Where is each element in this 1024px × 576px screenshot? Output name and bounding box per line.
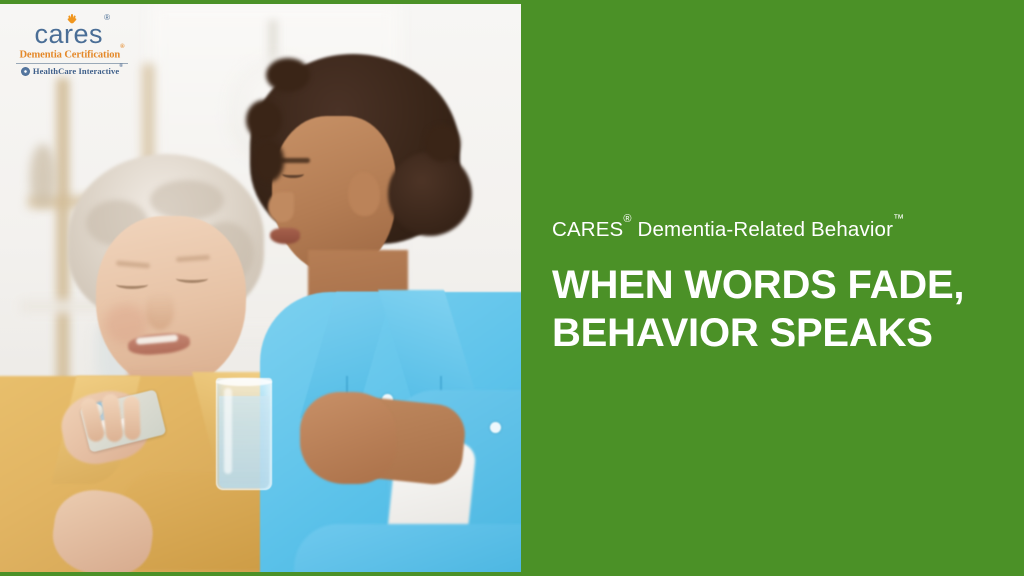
caregiver-eyebrow [280,158,310,163]
caregiver-hand [300,392,396,484]
hero-photo: cares® Dementia Certification® HealthCar… [0,4,521,572]
logo-company-mark: ® [119,64,123,69]
logo-company: HealthCare Interactive® [33,66,123,76]
logo-company-line: HealthCare Interactive® [14,66,130,76]
page-title: WHEN WORDS FADE, BEHAVIOR SPEAKS [552,261,990,359]
elder-eye [176,274,208,283]
logo-wordmark: cares® [14,22,130,48]
water-glass-rim [216,378,272,386]
caregiver-pants [294,524,521,572]
caregiver-lips [270,228,300,244]
eyebrow-trademark: ™ [893,213,904,225]
caregiver [236,4,521,572]
logo-tagline: Dementia Certification® [14,49,130,61]
logo-wordmark-text: cares [35,19,104,49]
flower-mark-icon [21,67,30,76]
caregiver-nose [268,192,294,222]
logo-divider [16,63,128,64]
headline-line-1: WHEN WORDS FADE, [552,261,990,310]
caregiver-hair-curl [254,140,284,182]
elder-eye [116,280,148,289]
elder-finger [123,396,141,441]
cares-logo[interactable]: cares® Dementia Certification® HealthCar… [14,12,130,76]
logo-tagline-text: Dementia Certification [19,49,120,60]
caregiver-hair-bun [388,152,472,236]
program-eyebrow: CARES® Dementia-Related Behavior™ [552,218,990,243]
caregiver-hair-curl [266,58,310,92]
caregiver-eye [282,170,304,178]
water-glass-highlight [224,388,232,474]
headline-line-2: BEHAVIOR SPEAKS [552,309,990,358]
eyebrow-brand: CARES [552,218,623,241]
logo-registered-mark: ® [104,13,110,22]
headline-panel: CARES® Dementia-Related Behavior™ WHEN W… [521,0,1024,576]
logo-tagline-mark: ® [120,44,124,50]
caregiver-scrub-button [490,422,501,433]
caregiver-ear [348,172,380,216]
promo-slide: cares® Dementia Certification® HealthCar… [0,0,1024,576]
eyebrow-rest: Dementia-Related Behavior [632,218,893,241]
caregiver-hair-curl [424,124,460,162]
caregiver-hair-curl [246,100,282,140]
eyebrow-registered-mark: ® [623,213,631,225]
elder-nose [146,292,174,330]
elder-hair-wave [150,180,224,220]
logo-company-text: HealthCare Interactive [33,66,119,76]
